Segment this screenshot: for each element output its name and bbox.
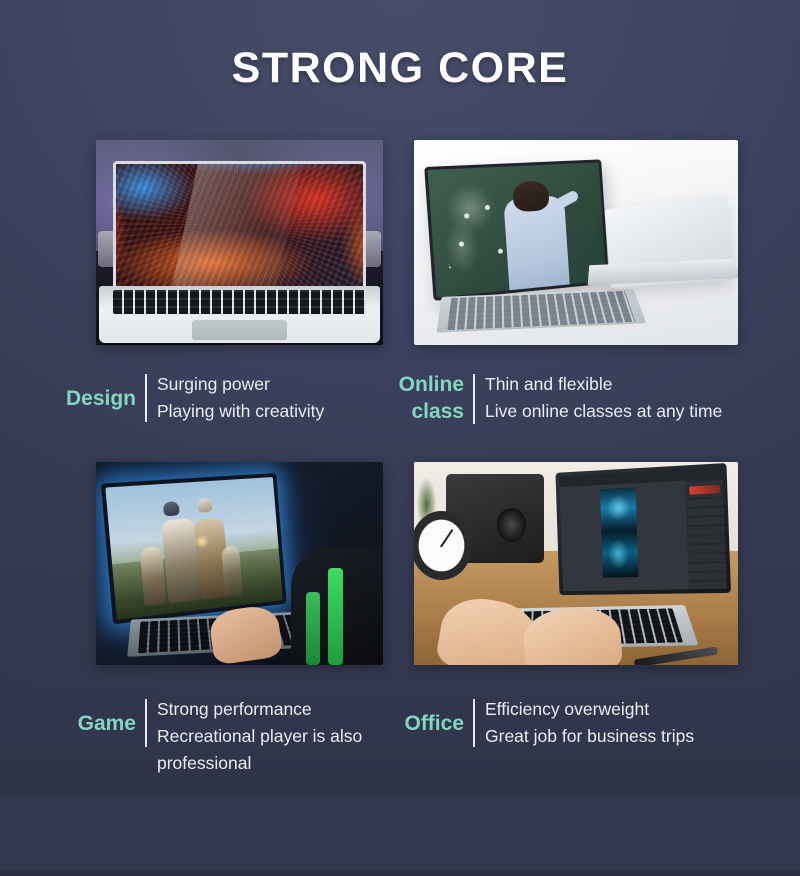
caption-line: Thin and flexible — [485, 371, 754, 398]
caption-label-game: Game — [64, 696, 136, 737]
photo2-laptop-lid — [424, 159, 609, 301]
photo3-character-helmet — [164, 501, 181, 516]
caption-lines-game: Strong performance Recreational player i… — [157, 696, 404, 777]
photo2-keyboard — [447, 292, 635, 331]
photo3-character-helmet — [197, 498, 213, 513]
laptop-colorful-wallpaper-photo — [96, 140, 383, 345]
feature-card-design — [96, 140, 383, 345]
photo1-abstract-wallpaper — [116, 164, 363, 287]
photo1-laptop-base — [99, 286, 380, 343]
caption-line: Strong performance — [157, 696, 404, 723]
photo3-game-character — [221, 545, 243, 597]
caption-label-design: Design — [64, 371, 136, 412]
photo1-laptop-screen — [116, 164, 363, 287]
caption-line: Surging power — [157, 371, 394, 398]
caption-label-office: Office — [384, 696, 464, 737]
caption-divider — [473, 699, 475, 747]
photo4-editor-panels — [686, 478, 727, 589]
photo3-game-character — [140, 547, 167, 606]
caption-divider — [145, 699, 147, 747]
bottom-edge-shadow — [0, 870, 800, 876]
caption-line: professional — [157, 750, 404, 777]
photo4-photo-editor-screen — [560, 467, 727, 591]
photo4-editor-canvas — [601, 488, 639, 578]
photo2-chalk-node — [485, 204, 490, 209]
caption-design: Design Surging power Playing with creati… — [64, 371, 394, 425]
caption-lines-office: Efficiency overweight Great job for busi… — [485, 696, 754, 750]
caption-line: Playing with creativity — [157, 398, 394, 425]
product-feature-banner: STRONG CORE — [0, 0, 800, 876]
photo2-chalk-node — [464, 213, 469, 218]
caption-lines-design: Surging power Playing with creativity — [157, 371, 394, 425]
photo3-laptop-lid — [101, 473, 287, 624]
photo1-trackpad — [192, 320, 288, 340]
photo4-editor-color-swatch — [689, 485, 720, 495]
photo1-laptop-lid — [113, 161, 366, 290]
laptop-gaming-photo — [96, 462, 383, 665]
caption-office: Office Efficiency overweight Great job f… — [384, 696, 754, 750]
caption-lines-online-class: Thin and flexible Live online classes at… — [485, 371, 754, 425]
photo1-keyboard — [113, 290, 366, 314]
photo2-chalk-node — [458, 241, 463, 247]
caption-line: Recreational player is also — [157, 723, 404, 750]
photo3-jacket-stripe — [306, 592, 320, 665]
caption-line: Live online classes at any time — [485, 398, 754, 425]
photo3-game-screen — [106, 477, 283, 620]
laptop-online-class-photo — [414, 140, 738, 345]
caption-game: Game Strong performance Recreational pla… — [64, 696, 404, 777]
feature-card-game — [96, 462, 383, 665]
caption-line: Efficiency overweight — [485, 696, 754, 723]
feature-card-office — [414, 462, 738, 665]
photo4-alarm-clock — [414, 511, 472, 580]
caption-divider — [473, 374, 475, 424]
photo2-chalkboard-screen — [428, 162, 607, 297]
photo3-muzzle-flare — [192, 532, 213, 552]
caption-line: Great job for business trips — [485, 723, 754, 750]
photo2-laptop-base — [436, 289, 646, 333]
laptop-office-photo — [414, 462, 738, 665]
photo3-jacket-stripe — [328, 568, 342, 665]
photo4-laptop-lid — [556, 463, 731, 595]
caption-online-class: Online class Thin and flexible Live onli… — [384, 371, 754, 425]
feature-card-online-class — [414, 140, 738, 345]
page-title: STRONG CORE — [0, 44, 800, 93]
caption-label-online-class: Online class — [384, 371, 464, 425]
photo3-gamer-hand — [207, 604, 283, 665]
caption-divider — [145, 374, 147, 422]
